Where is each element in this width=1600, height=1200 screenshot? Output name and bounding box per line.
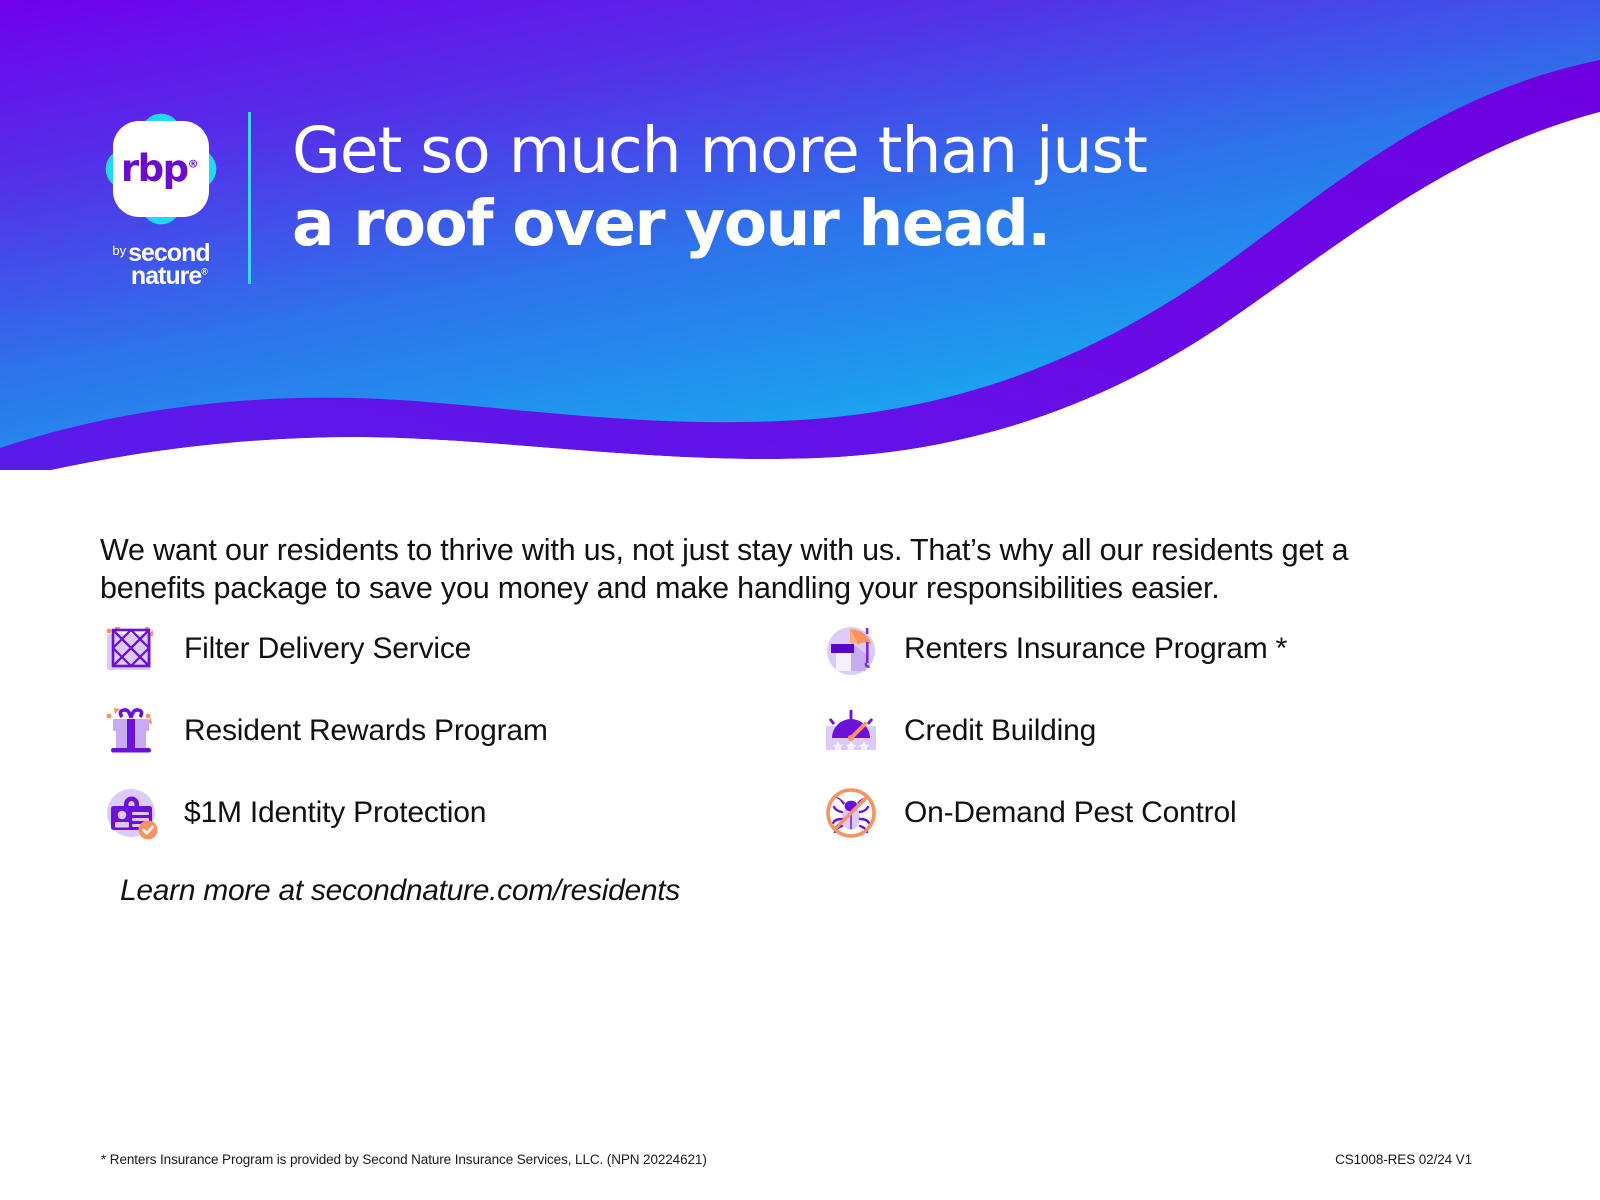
headline-line-2: a roof over your head.	[292, 191, 1147, 258]
credit-gauge-icon	[820, 700, 882, 762]
company-trademark-icon: ®	[201, 267, 207, 277]
benefit-label: $1M Identity Protection	[184, 796, 486, 830]
umbrella-house-icon	[820, 618, 882, 680]
benefit-label: Filter Delivery Service	[184, 632, 471, 666]
footer-doc-code: CS1008-RES 02/24 V1	[1335, 1152, 1472, 1167]
benefit-item-identity-protection: $1M Identity Protection	[100, 772, 820, 854]
id-badge-icon	[100, 782, 162, 844]
air-filter-icon	[100, 618, 162, 680]
benefit-label: Resident Rewards Program	[184, 714, 548, 748]
logo-white-tile: rbp®	[113, 121, 209, 217]
benefit-label: Renters Insurance Program *	[904, 632, 1287, 666]
headline-line-1: Get so much more than just	[292, 118, 1147, 185]
footer-disclaimer: * Renters Insurance Program is provided …	[101, 1152, 707, 1167]
intro-paragraph: We want our residents to thrive with us,…	[100, 531, 1430, 608]
hero-banner: rbp® bysecondnature® Get so much more th…	[0, 0, 1600, 470]
benefit-item-credit-building: Credit Building	[820, 690, 1440, 772]
by-second-nature-lockup: bysecondnature®	[95, 242, 227, 288]
benefit-item-pest-control: On-Demand Pest Control	[820, 772, 1440, 854]
benefit-label: Credit Building	[904, 714, 1096, 748]
logo-by-word: by	[112, 243, 126, 258]
benefit-label: On-Demand Pest Control	[904, 796, 1236, 830]
rbp-logo-mark: rbp®	[100, 108, 222, 230]
logo-trademark-icon: ®	[188, 157, 198, 170]
learn-more-text: Learn more at secondnature.com/residents	[120, 874, 680, 908]
no-pest-icon	[820, 782, 882, 844]
benefits-list: Filter Delivery Service Renters Insuranc…	[100, 608, 1440, 854]
logo-divider-rule	[248, 112, 251, 284]
logo-rbp-text: rbp®	[121, 150, 197, 187]
benefit-item-renters-insurance: Renters Insurance Program *	[820, 608, 1440, 690]
benefit-item-filter-delivery: Filter Delivery Service	[100, 608, 820, 690]
gift-box-icon	[100, 700, 162, 762]
hero-headline: Get so much more than just a roof over y…	[292, 118, 1147, 258]
brand-logo-lockup: rbp® bysecondnature®	[95, 108, 227, 288]
benefit-item-resident-rewards: Resident Rewards Program	[100, 690, 820, 772]
logo-second-nature-text: secondnature®	[128, 242, 210, 288]
